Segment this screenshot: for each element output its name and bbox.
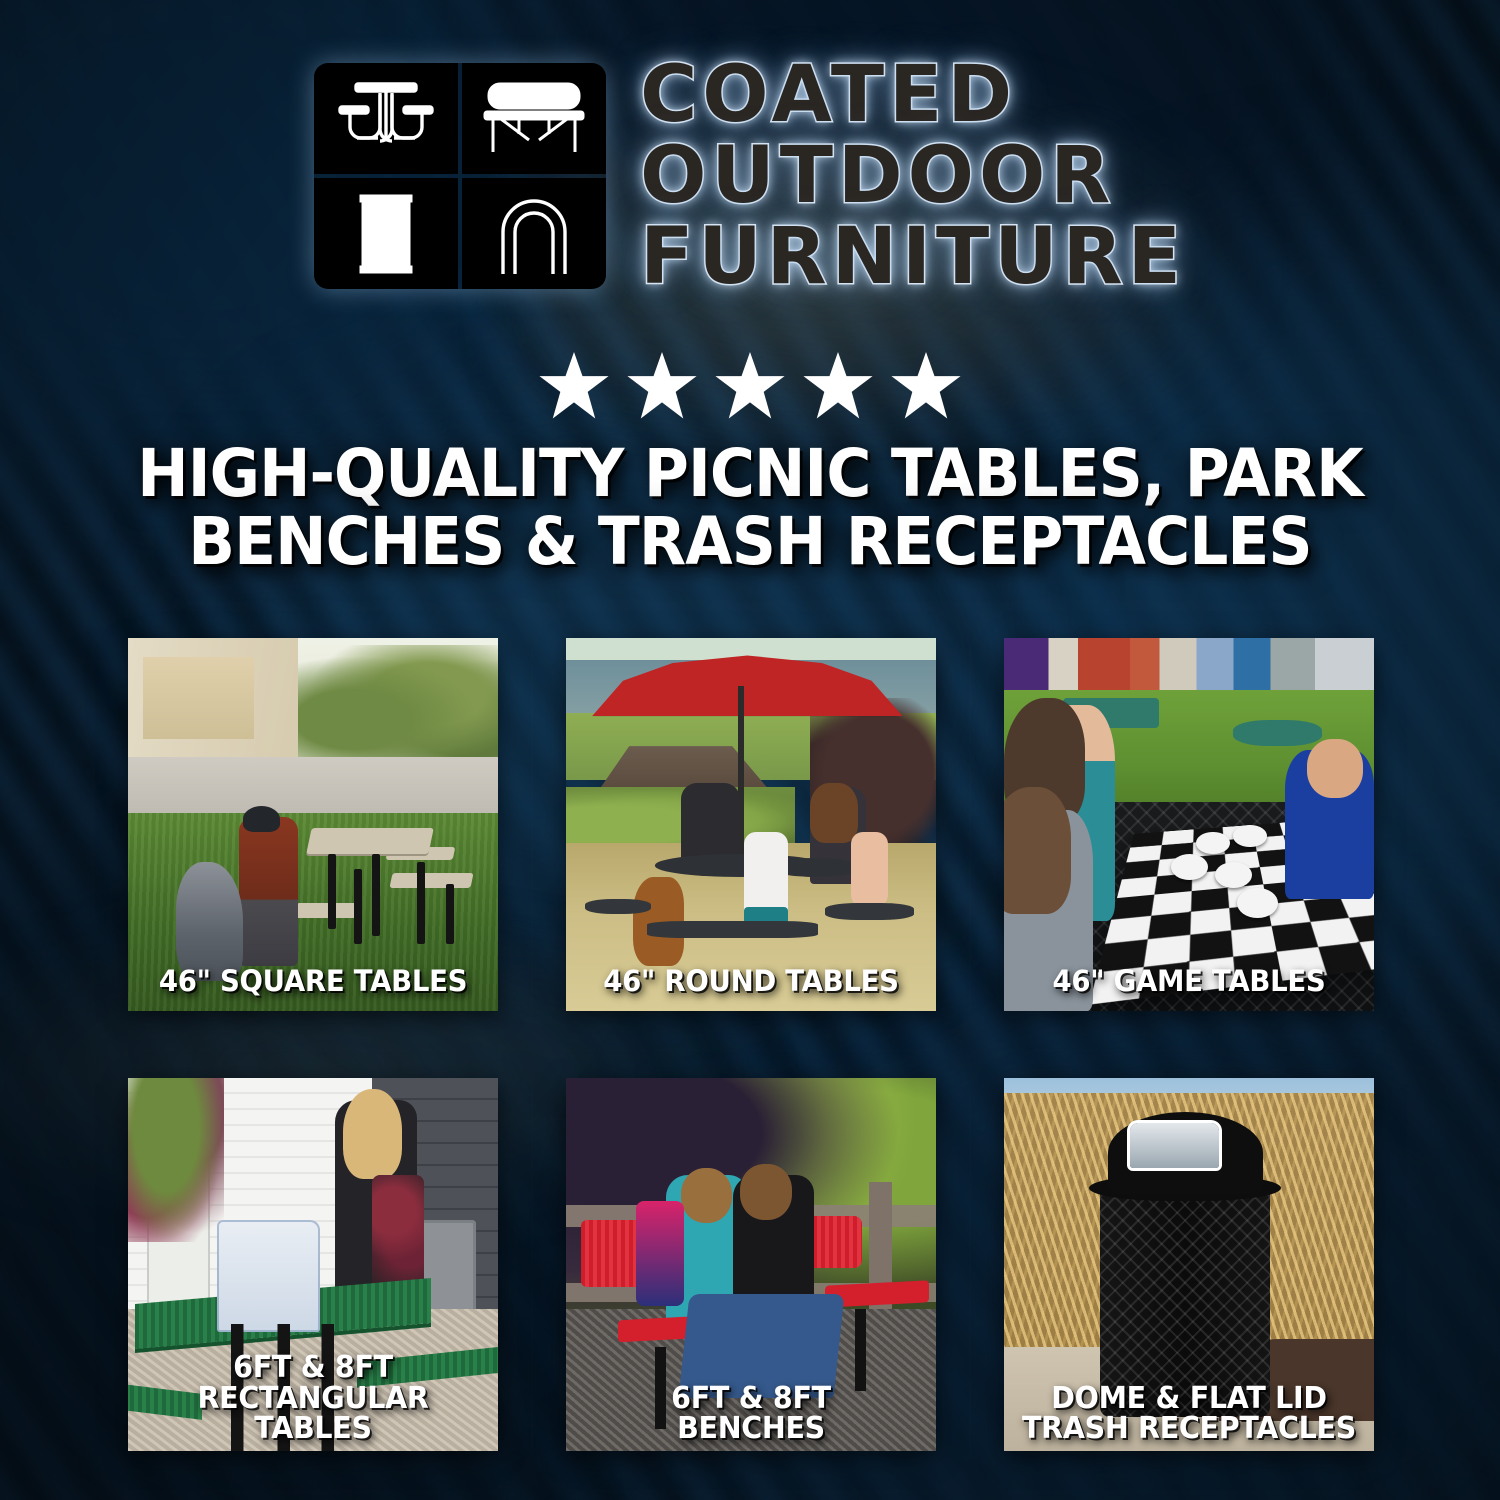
star-icon-2 [626,352,698,422]
picnic-table-icon [314,63,458,174]
product-caption: 46" ROUND TABLES [581,967,921,997]
brand-logo-mark [314,63,606,289]
trash-receptacle-icon [314,178,458,289]
brand-header: COATED OUTDOOR FURNITURE [0,58,1500,295]
poster-canvas: COATED OUTDOOR FURNITURE HIGH-QUALITY PI… [0,0,1500,1500]
product-tile-trash-receptacles[interactable]: DOME & FLAT LID TRASH RECEPTACLES [1004,1078,1374,1451]
product-caption: 46" SQUARE TABLES [143,967,483,997]
bench-icon [462,63,606,174]
star-icon-1 [538,352,610,422]
star-icon-3 [714,352,786,422]
brand-line-1: COATED [640,58,1186,133]
product-caption: DOME & FLAT LID TRASH RECEPTACLES [1019,1384,1359,1445]
brand-line-3: FURNITURE [640,220,1186,295]
product-caption: 6FT & 8FT BENCHES [581,1384,921,1445]
star-icon-5 [890,352,962,422]
product-tile-square-tables[interactable]: 46" SQUARE TABLES [128,638,498,1011]
photo-round-tables [566,638,936,1011]
brand-line-2: OUTDOOR [640,139,1186,214]
product-tile-round-tables[interactable]: 46" ROUND TABLES [566,638,936,1011]
headline-line-2: BENCHES & TRASH RECEPTACLES [108,508,1391,576]
brand-name: COATED OUTDOOR FURNITURE [640,58,1186,295]
headline-line-1: HIGH-QUALITY PICNIC TABLES, PARK [108,440,1391,508]
product-caption: 6FT & 8FT RECTANGULAR TABLES [143,1353,483,1445]
product-grid: 46" SQUARE TABLES [128,638,1376,1451]
page-title: HIGH-QUALITY PICNIC TABLES, PARK BENCHES… [108,440,1391,576]
product-tile-benches[interactable]: 6FT & 8FT BENCHES [566,1078,936,1451]
rating-stars [0,352,1500,422]
product-tile-rectangular-tables[interactable]: 6FT & 8FT RECTANGULAR TABLES [128,1078,498,1451]
photo-game-tables [1004,638,1374,1011]
star-icon-4 [802,352,874,422]
product-tile-game-tables[interactable]: 46" GAME TABLES [1004,638,1374,1011]
logo-lockup: COATED OUTDOOR FURNITURE [314,58,1186,295]
bike-rack-icon [462,178,606,289]
photo-square-tables [128,638,498,1011]
product-caption: 46" GAME TABLES [1019,967,1359,997]
